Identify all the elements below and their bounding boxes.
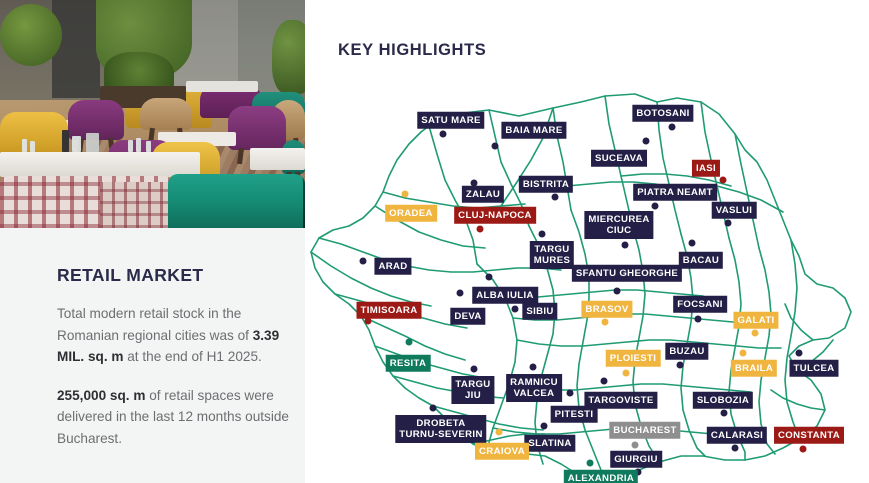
city-label[interactable]: ARAD (374, 258, 411, 275)
city-label[interactable]: DEVA (450, 308, 485, 325)
city-dot (477, 226, 484, 233)
city-dot (512, 306, 519, 313)
paragraph: 255,000 sq. m of retail spaces were deli… (57, 385, 293, 450)
city-label[interactable]: BOTOSANI (632, 105, 693, 122)
city-label[interactable]: FOCSANI (673, 296, 727, 313)
city-label[interactable]: SATU MARE (417, 112, 484, 129)
section-heading: KEY HIGHLIGHTS (338, 41, 486, 60)
city-label[interactable]: BACAU (679, 252, 723, 269)
city-dot (486, 274, 493, 281)
city-dot (740, 350, 747, 357)
city-dot (406, 339, 413, 346)
city-label[interactable]: CLUJ-NAPOCA (454, 207, 536, 224)
city-label[interactable]: BUZAU (665, 343, 708, 360)
city-dot (614, 288, 621, 295)
city-dot (402, 191, 409, 198)
city-dot (677, 362, 684, 369)
city-label[interactable]: TULCEA (789, 360, 838, 377)
city-label[interactable]: ORADEA (385, 205, 437, 222)
romania-map-svg (305, 88, 869, 483)
city-label[interactable]: VASLUI (712, 202, 757, 219)
city-label[interactable]: PITESTI (551, 406, 598, 423)
city-dot (652, 203, 659, 210)
city-dot (440, 131, 447, 138)
city-dot (622, 242, 629, 249)
city-label[interactable]: GIURGIU (610, 451, 662, 468)
city-dot (496, 429, 503, 436)
photo-table (0, 152, 200, 177)
city-dot (471, 366, 478, 373)
city-dot (492, 143, 499, 150)
city-label[interactable]: BAIA MARE (501, 122, 566, 139)
city-label[interactable]: ALEXANDRIA (564, 470, 638, 483)
city-label[interactable]: TARGU MURES (530, 241, 574, 269)
city-dot (800, 446, 807, 453)
city-dot (632, 442, 639, 449)
city-dot (695, 316, 702, 323)
city-dot (732, 445, 739, 452)
city-dot (752, 330, 759, 337)
city-label[interactable]: SUCEAVA (591, 150, 647, 167)
romania-map: SATU MAREBAIA MAREBOTOSANISUCEAVABISTRIT… (305, 88, 869, 483)
city-label[interactable]: SFANTU GHEORGHE (572, 265, 682, 282)
city-dot (567, 390, 574, 397)
city-label[interactable]: SIBIU (522, 303, 557, 320)
photo-plant (272, 20, 305, 94)
highlighted-figure: 255,000 sq. m (57, 388, 145, 403)
city-label[interactable]: ALBA IULIA (472, 287, 538, 304)
city-label[interactable]: TARGU JIU (451, 376, 494, 404)
city-dot (720, 177, 727, 184)
city-label[interactable]: SLATINA (524, 435, 575, 452)
city-label[interactable]: SLOBOZIA (693, 392, 753, 409)
photo-table (186, 81, 258, 92)
city-dot (725, 220, 732, 227)
city-dot (552, 194, 559, 201)
paragraph-text: Total modern retail stock in the Romania… (57, 306, 253, 343)
city-dot (602, 319, 609, 326)
city-label[interactable]: CRAIOVA (475, 443, 529, 460)
photo-chair (140, 98, 192, 130)
city-dot (365, 318, 372, 325)
city-dot (643, 138, 650, 145)
key-highlights-panel: KEY HIGHLIGHTS (305, 0, 869, 483)
city-label[interactable]: BRAILA (731, 360, 777, 377)
city-dot (689, 240, 696, 247)
city-label[interactable]: CALARASI (707, 427, 767, 444)
city-dot (430, 405, 437, 412)
city-label[interactable]: IASI (692, 160, 720, 177)
city-label[interactable]: MIERCUREA CIUC (584, 211, 653, 239)
city-dot (721, 410, 728, 417)
city-dot (360, 258, 367, 265)
page-title: RETAIL MARKET (57, 265, 293, 286)
photo-bottom-fade (0, 188, 305, 228)
city-label[interactable]: BISTRITA (519, 176, 573, 193)
city-dot (539, 231, 546, 238)
city-dot (457, 290, 464, 297)
city-dot (587, 460, 594, 467)
photo-table (250, 148, 305, 170)
restaurant-interior-photo (0, 0, 305, 228)
photo-chair (228, 106, 286, 150)
paragraph-text: at the end of H1 2025. (123, 349, 261, 364)
paragraph: Total modern retail stock in the Romania… (57, 303, 293, 368)
city-label[interactable]: GALATI (733, 312, 778, 329)
city-dot (541, 423, 548, 430)
paragraph-list: Total modern retail stock in the Romania… (57, 303, 293, 449)
city-dot (796, 350, 803, 357)
city-dot (601, 378, 608, 385)
left-panel: RETAIL MARKET Total modern retail stock … (0, 0, 305, 483)
city-label[interactable]: PIATRA NEAMT (633, 184, 717, 201)
city-dot (530, 364, 537, 371)
city-dot (669, 124, 676, 131)
city-dot (623, 370, 630, 377)
city-label[interactable]: RESITA (386, 355, 431, 372)
city-label[interactable]: TIMISOARA (357, 302, 422, 319)
city-label[interactable]: BRASOV (581, 301, 632, 318)
city-label[interactable]: CONSTANTA (774, 427, 844, 444)
city-label[interactable]: DROBETA TURNU-SEVERIN (395, 415, 486, 443)
city-label[interactable]: RAMNICU VALCEA (506, 374, 562, 402)
retail-market-text-block: RETAIL MARKET Total modern retail stock … (57, 265, 293, 466)
city-label[interactable]: BUCHAREST (609, 422, 680, 439)
photo-window-glass (52, 0, 100, 98)
city-label[interactable]: ZALAU (462, 186, 504, 203)
photo-plant (0, 4, 62, 66)
city-label[interactable]: PLOIESTI (606, 350, 661, 367)
